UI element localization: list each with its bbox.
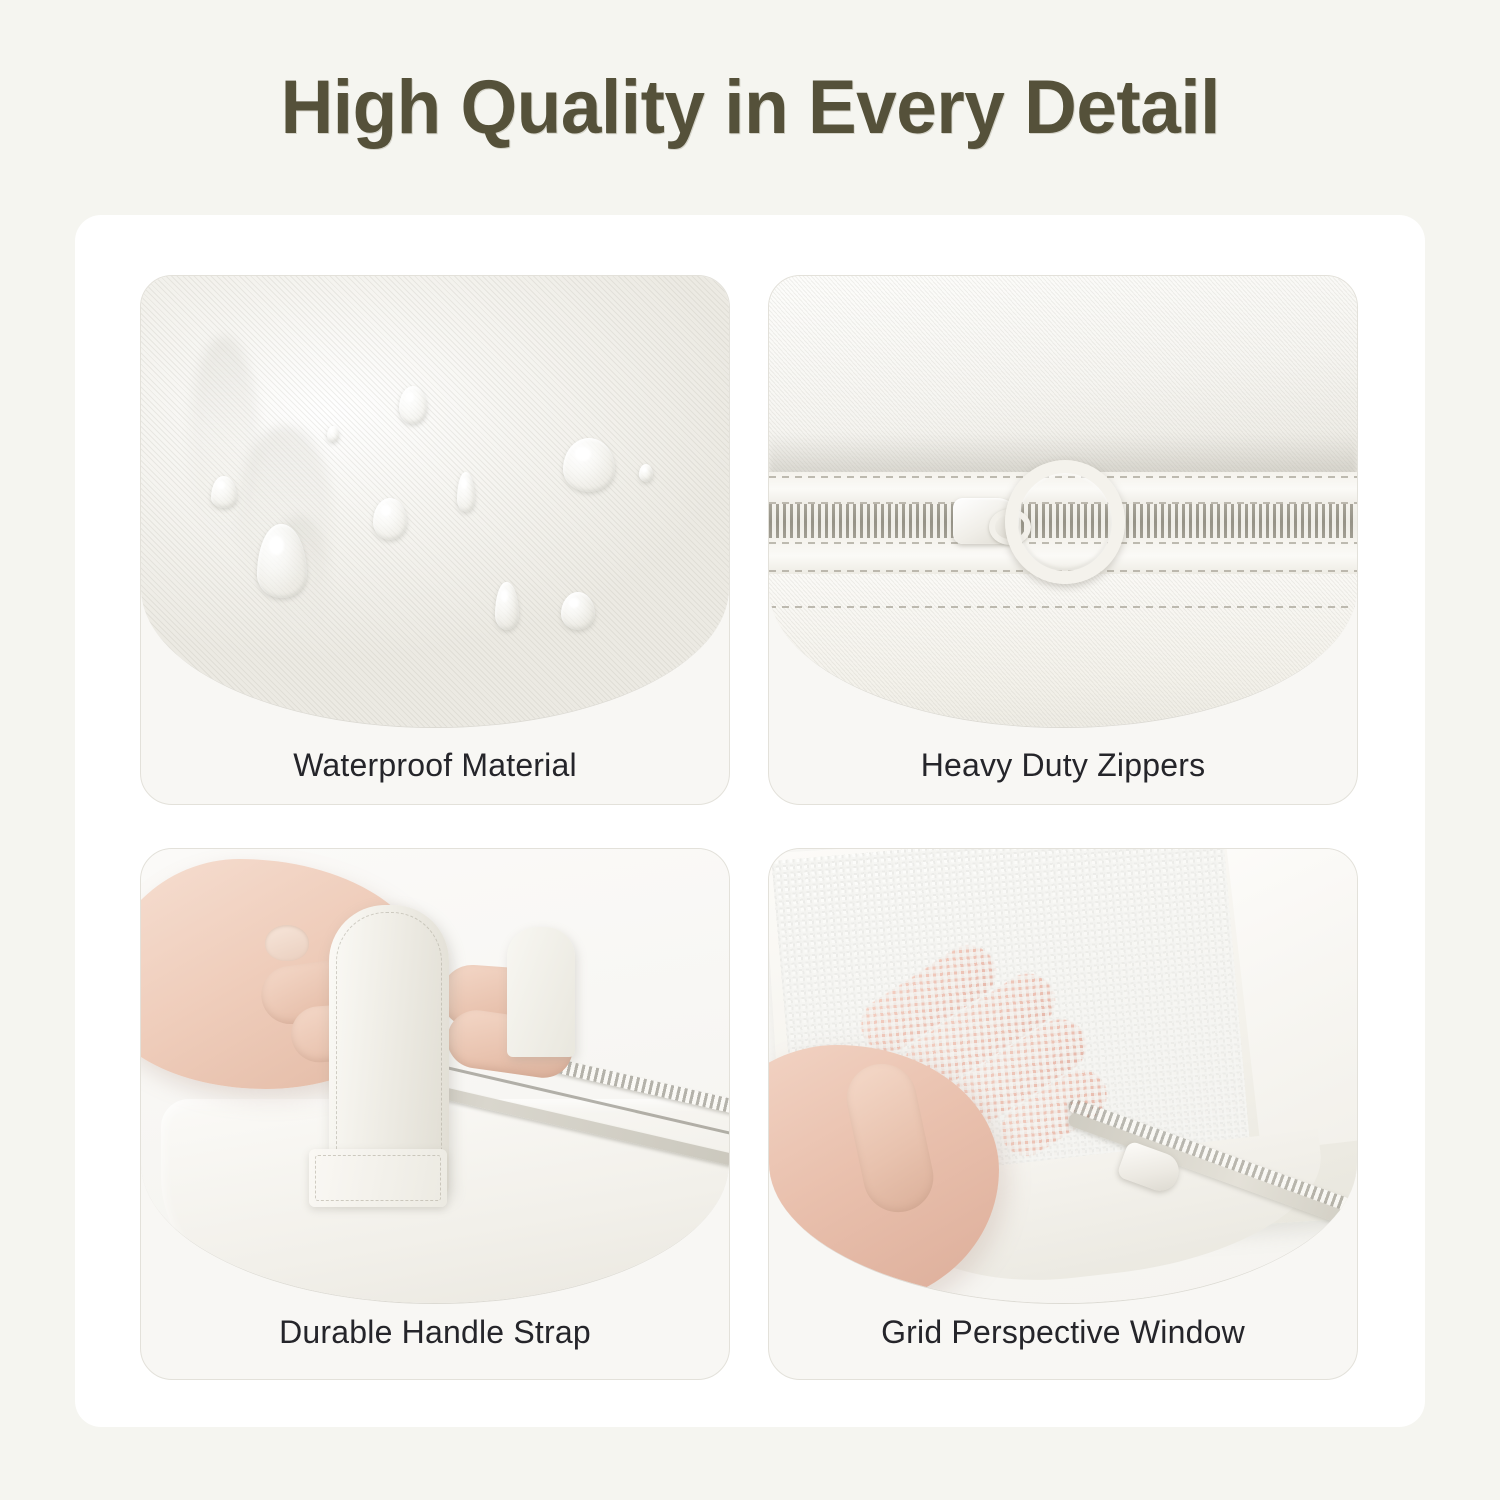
grid-perspective-window-image [769,849,1357,1304]
water-droplet [399,386,427,424]
feature-card-label: Durable Handle Strap [141,1293,729,1371]
page-title: High Quality in Every Detail [280,64,1219,151]
water-droplet [639,464,653,482]
feature-card-label: Grid Perspective Window [769,1293,1357,1371]
feature-card-waterproof-material[interactable]: Waterproof Material [140,275,730,805]
feature-card-label: Waterproof Material [141,726,729,804]
heavy-duty-zippers-image [769,276,1357,728]
header: High Quality in Every Detail [0,0,1500,215]
feature-card-grid-perspective-window[interactable]: Grid Perspective Window [768,848,1358,1380]
durable-handle-strap-image [141,849,729,1304]
feature-grid: Waterproof Material [140,275,1358,1380]
waterproof-material-image [141,276,729,728]
thumbnail [265,925,309,961]
water-droplet [561,592,595,630]
water-droplet [327,426,339,442]
water-droplet [373,498,407,540]
water-droplet [563,438,615,492]
zipper-ring-pull [1005,460,1125,584]
handle-strap-anchor [309,1149,447,1207]
feature-card-durable-handle-strap[interactable]: Durable Handle Strap [140,848,730,1380]
feature-card-heavy-duty-zippers[interactable]: Heavy Duty Zippers [768,275,1358,805]
handle-strap-back [507,927,575,1057]
feature-card-label: Heavy Duty Zippers [769,726,1357,804]
